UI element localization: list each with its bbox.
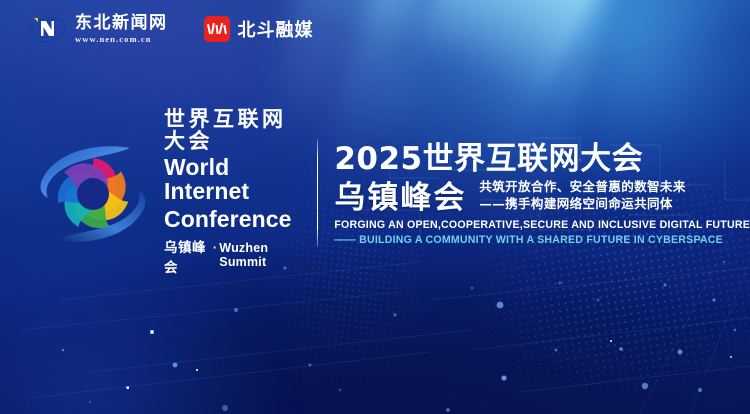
- wic-subtitle-en: Wuzhen Summit: [219, 241, 302, 269]
- english-subtitle-line1: FORGING AN OPEN,COOPERATIVE,SECURE AND I…: [334, 219, 750, 231]
- wic-text-block: 世界互联网大会 World Internet Conference 乌镇峰会 ·…: [164, 108, 303, 276]
- wic-subtitle-cn: 乌镇峰会: [164, 236, 211, 276]
- english-subtitle-line2: —— BUILDING A COMMUNITY WITH A SHARED FU…: [334, 234, 750, 246]
- beidou-name-cn: 北斗融媒: [238, 16, 314, 42]
- nen-url: www.nen.com.cn: [75, 35, 168, 44]
- nen-text-block: 东北新闻网 www.nen.com.cn: [75, 15, 168, 44]
- main-title: 2025世界互联网大会: [334, 142, 750, 176]
- logo-beidou[interactable]: 北斗融媒: [204, 16, 314, 42]
- calligraphy-and-subtitle-row: 乌镇峰会 共筑开放合作、安全普惠的数智未来 ——携手构建网络空间命运共同体: [334, 180, 750, 214]
- nen-name-cn: 东北新闻网: [75, 15, 168, 32]
- vertical-divider: [317, 139, 319, 247]
- nen-n-mark-icon: [26, 12, 68, 46]
- site-logo-header: 东北新闻网 www.nen.com.cn 北斗融媒: [0, 0, 750, 58]
- wic-subtitle: 乌镇峰会 · Wuzhen Summit: [164, 236, 303, 276]
- conference-title-block: 2025世界互联网大会 乌镇峰会 共筑开放合作、安全普惠的数智未来 ——携手构建…: [334, 140, 750, 246]
- chinese-subtitle-block: 共筑开放合作、安全普惠的数智未来 ——携手构建网络空间命运共同体: [479, 180, 685, 214]
- calligraphy-wuzhen-summit: 乌镇峰会: [334, 183, 466, 214]
- beidou-red-square-icon: [204, 16, 230, 42]
- banner-image: 东北新闻网 www.nen.com.cn 北斗融媒: [0, 0, 750, 414]
- world-internet-conference-ring-emblem-icon: [34, 132, 152, 254]
- chinese-subtitle-line2: ——携手构建网络空间命运共同体: [479, 197, 685, 211]
- conference-banner: 世界互联网大会 World Internet Conference 乌镇峰会 ·…: [0, 118, 750, 268]
- wic-logo-group: 世界互联网大会 World Internet Conference 乌镇峰会 ·…: [34, 110, 303, 276]
- wic-title-en-line2: Conference: [164, 207, 303, 231]
- chinese-subtitle-line1: 共筑开放合作、安全普惠的数智未来: [479, 180, 685, 194]
- wic-subtitle-separator: ·: [213, 241, 217, 255]
- wic-title-cn: 世界互联网大会: [164, 108, 303, 152]
- wic-title-en-line1: World Internet: [164, 155, 303, 204]
- logo-nen[interactable]: 东北新闻网 www.nen.com.cn: [26, 12, 168, 46]
